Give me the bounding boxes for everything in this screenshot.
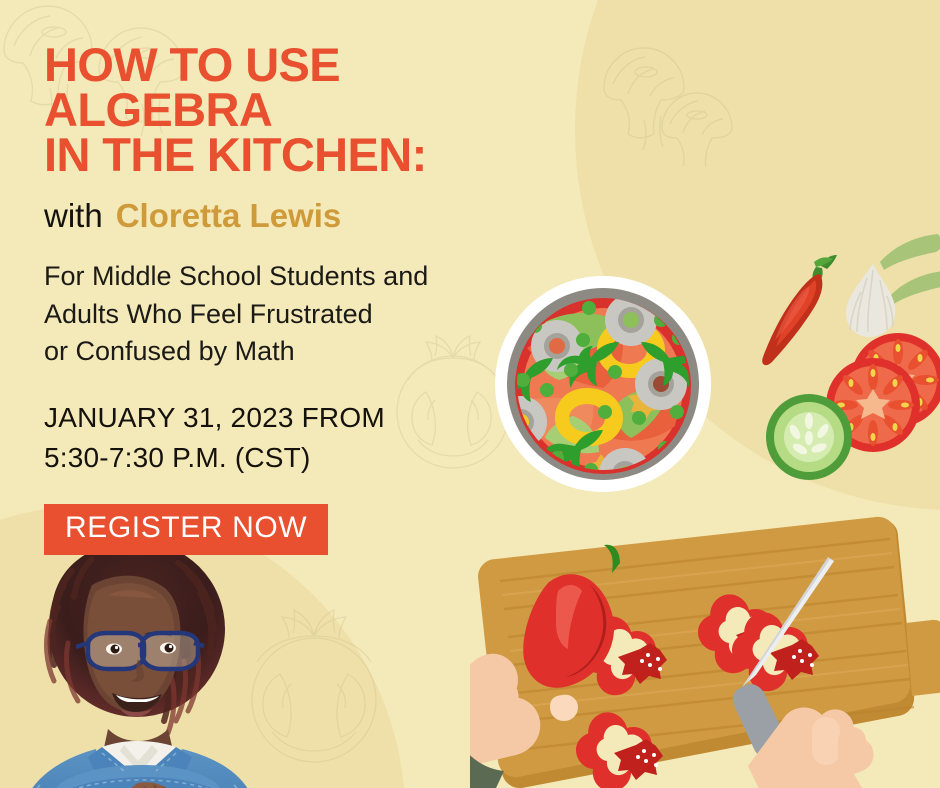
title-line-1: HOW TO USE ALGEBRA bbox=[44, 38, 340, 136]
audience-line-1: For Middle School Students and bbox=[44, 258, 564, 295]
engraved-mushroom-line-art bbox=[596, 36, 756, 166]
presenter-portrait-photo bbox=[0, 533, 282, 788]
webinar-flyer: HOW TO USE ALGEBRA IN THE KITCHEN: withC… bbox=[0, 0, 940, 788]
event-time: 5:30-7:30 P.M. (CST) bbox=[44, 438, 564, 478]
cucumber-slice-illustration bbox=[762, 390, 857, 485]
page-title: HOW TO USE ALGEBRA IN THE KITCHEN: bbox=[44, 42, 564, 177]
presenter-name: Cloretta Lewis bbox=[116, 197, 342, 234]
audience-line-3: or Confused by Math bbox=[44, 333, 564, 370]
title-line-2: IN THE KITCHEN: bbox=[44, 132, 564, 177]
presenter-line: withCloretta Lewis bbox=[44, 199, 564, 232]
audience-description: For Middle School Students and Adults Wh… bbox=[44, 258, 564, 370]
with-label: with bbox=[44, 197, 103, 234]
event-date: JANUARY 31, 2023 FROM bbox=[44, 398, 564, 438]
flyer-text-column: HOW TO USE ALGEBRA IN THE KITCHEN: withC… bbox=[44, 42, 564, 555]
event-datetime: JANUARY 31, 2023 FROM 5:30-7:30 P.M. (CS… bbox=[44, 398, 564, 478]
audience-line-2: Adults Who Feel Frustrated bbox=[44, 296, 564, 333]
register-now-button[interactable]: REGISTER NOW bbox=[44, 504, 328, 555]
